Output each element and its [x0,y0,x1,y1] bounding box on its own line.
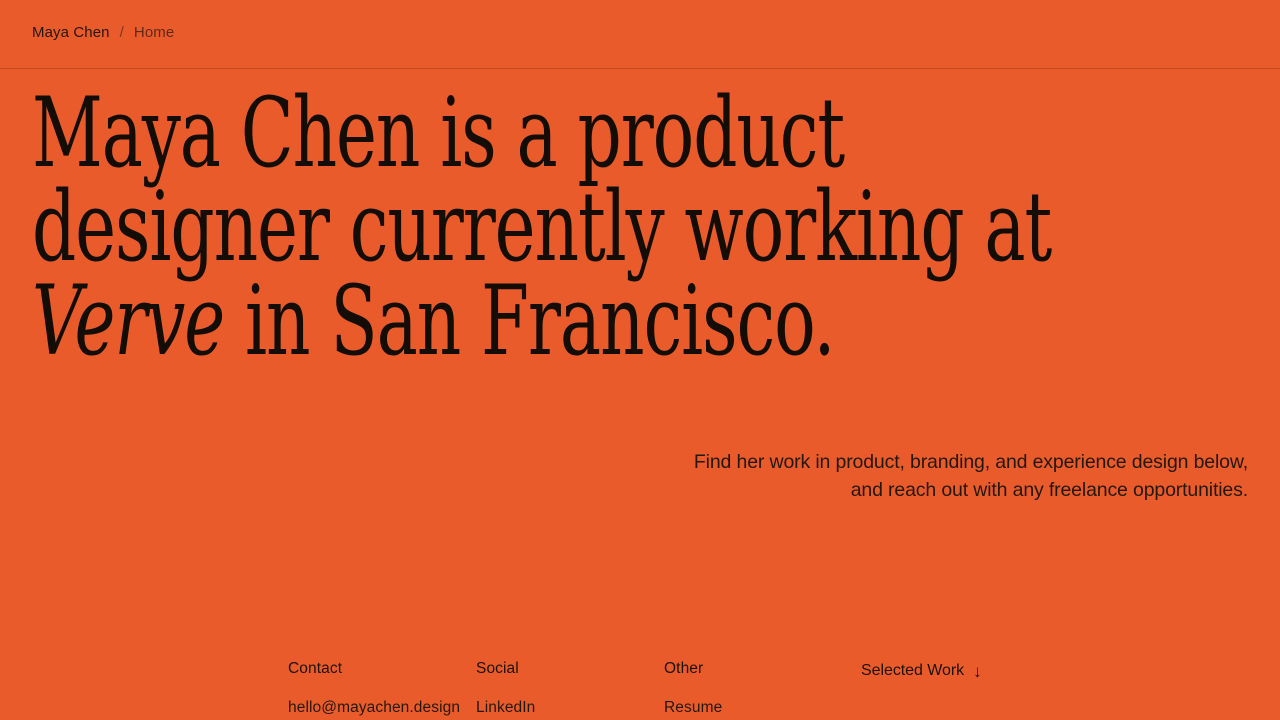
breadcrumb-item-root[interactable]: Maya Chen [32,24,110,41]
footer-column-contact: Contact hello@mayachen.design [288,660,460,717]
hero-section: Maya Chen is a product designer currentl… [32,86,1032,368]
breadcrumb-item-home[interactable]: Home [134,24,174,41]
breadcrumb: Maya Chen / Home [32,24,174,41]
footer-heading-contact: Contact [288,660,460,678]
footer-link-resume[interactable]: Resume [664,699,722,717]
footer-link-linkedin[interactable]: LinkedIn [476,699,535,717]
hero-title-line-2: designer currently working at [32,180,752,274]
footer-heading-other: Other [664,660,722,678]
footer-heading-social: Social [476,660,535,678]
hero-title-line-3-rest: in San Francisco. [224,265,834,377]
selected-work-label: Selected Work [861,662,964,680]
hero-title-line-3: Verve in San Francisco. [32,274,752,368]
hero-title-emphasis-verve: Verve [32,265,224,377]
breadcrumb-separator: / [120,24,124,41]
footer-link-email[interactable]: hello@mayachen.design [288,699,460,717]
intro-paragraph: Find her work in product, branding, and … [688,448,1248,505]
footer-column-other: Other Resume [664,660,722,717]
page-root: Maya Chen / Home Maya Chen is a product … [0,0,1280,720]
site-header: Maya Chen / Home [0,0,1280,69]
arrow-down-icon: ↓ [973,663,982,680]
site-footer: Contact hello@mayachen.design Social Lin… [0,660,1280,720]
footer-column-social: Social LinkedIn [476,660,535,717]
hero-title-line-1: Maya Chen is a product [32,86,752,180]
selected-work-button[interactable]: Selected Work ↓ [861,662,982,680]
page-title: Maya Chen is a product designer currentl… [32,86,752,368]
